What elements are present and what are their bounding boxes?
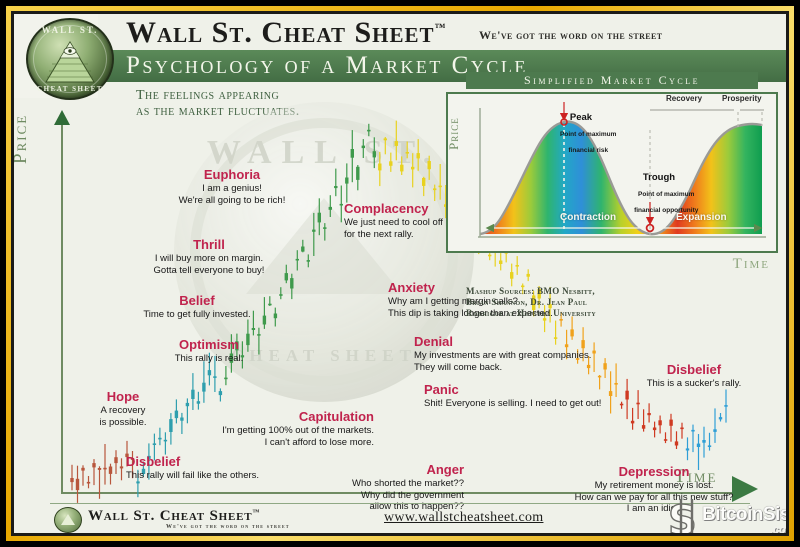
inset-peak-title: Peak	[526, 112, 636, 123]
footer-wordmark-text: Wall St. Cheat Sheet	[88, 508, 252, 524]
label-hope-body: A recovery is possible.	[100, 405, 147, 428]
label-euphoria-body: I am a genius! We're all going to be ric…	[179, 183, 286, 206]
inset-peak-sub1: Point of maximum	[560, 131, 616, 138]
label-panic-body: Shit! Everyone is selling. I need to get…	[424, 398, 601, 409]
poster: WALL ST. CHEAT SHEET Wall St. Cheat Shee…	[0, 0, 800, 547]
label-depression-title: Depression	[554, 464, 754, 480]
bitcoinsistemi-watermark: S BitcoinSistemi .com	[666, 498, 786, 533]
label-optimism-title: Optimism	[154, 337, 264, 353]
label-disbelief-body: This rally will fail like the others.	[126, 470, 259, 481]
inset-time-axis-label: Time	[733, 256, 770, 273]
label-hope-title: Hope	[84, 389, 162, 405]
inset-title-banner: Simplified Market Cycle	[466, 72, 758, 89]
inset-peak-annotation: Peak Point of maximum financial risk	[526, 96, 636, 163]
inset-trough-title: Trough	[594, 172, 724, 183]
mashup-sources: Mashup Sources: BMO Nesbitt, Brian Shann…	[466, 286, 596, 319]
sources-line2: Brian Shannon, Dr. Jean Paul	[466, 297, 596, 308]
label-complacency-body: We just need to cool off for the next ra…	[344, 217, 443, 240]
footer-tagline: We've got the word on the street	[166, 524, 290, 530]
footer-wordmark: Wall St. Cheat Sheet™	[88, 508, 260, 525]
label-euphoria: EuphoriaI am a genius! We're all going t…	[162, 144, 302, 218]
label-disbelief-rally-title: Disbelief	[624, 362, 764, 378]
label-capitulation-title: Capitulation	[214, 409, 374, 425]
label-belief-title: Belief	[132, 293, 262, 309]
label-euphoria-title: Euphoria	[162, 167, 302, 183]
label-thrill-body: I will buy more on margin. Gotta tell ev…	[154, 253, 265, 276]
inset-trough-sub1: Point of maximum	[638, 191, 694, 198]
sources-line1: Mashup Sources: BMO Nesbitt,	[466, 286, 596, 297]
footer-url-link[interactable]: www.wallstcheatsheet.com	[384, 510, 543, 526]
label-anger-title: Anger	[334, 462, 464, 478]
footer-pyramid-icon	[61, 514, 75, 525]
watermark-name: BitcoinSistemi	[702, 504, 786, 526]
footer-seal-icon	[54, 507, 82, 533]
label-hope: HopeA recovery is possible.	[84, 366, 162, 440]
footer-trademark: ™	[252, 508, 260, 516]
inset-phase-expansion: Expansion	[676, 212, 727, 223]
label-thrill-title: Thrill	[144, 237, 274, 253]
inset-bracket-recovery: Recovery	[666, 94, 702, 103]
inset-peak-sub2: financial risk	[568, 147, 608, 154]
label-belief-body: Time to get fully invested.	[143, 309, 250, 320]
inset-phase-contraction: Contraction	[560, 212, 616, 223]
sources-line3: Rodrigue at Hofstra University	[466, 308, 596, 319]
label-optimism-body: This rally is real.	[175, 353, 244, 364]
watermark-suffix: .com	[770, 524, 786, 533]
label-thrill: ThrillI will buy more on margin. Gotta t…	[144, 214, 274, 288]
inset-bracket-prosperity: Prosperity	[722, 94, 762, 103]
label-disbelief-rally: DisbeliefThis is a sucker's rally.	[624, 339, 764, 401]
simplified-market-cycle-chart: Price	[446, 92, 778, 253]
page-canvas: WALL ST. CHEAT SHEET Wall St. Cheat Shee…	[14, 14, 786, 533]
label-disbelief-rally-body: This is a sucker's rally.	[647, 378, 742, 389]
inset-price-axis-label: Price	[446, 117, 462, 150]
